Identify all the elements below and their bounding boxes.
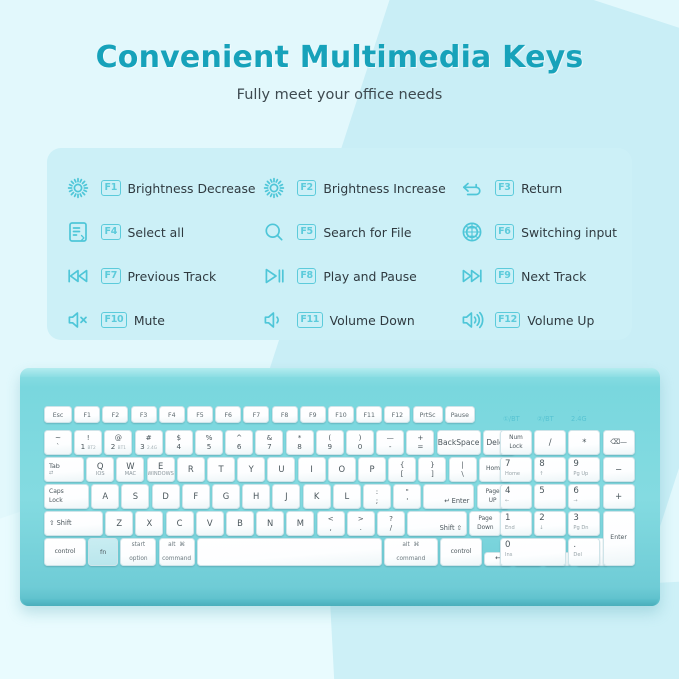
- header: Convenient Multimedia Keys Fully meet yo…: [0, 40, 679, 103]
- key-3: #3 2.4G: [135, 430, 163, 455]
- mute-icon: [65, 307, 91, 333]
- feature-item-f10: F10Mute: [53, 298, 261, 342]
- fkey-badge: F5: [297, 224, 317, 241]
- key-alt-command-right: alt ⌘command: [384, 538, 438, 566]
- key-tab: Tab⇄: [44, 457, 84, 482]
- key-a: A: [91, 484, 119, 509]
- key-numpad-3: 3Pg Dn: [568, 511, 600, 536]
- key-prtsc: PrtSc: [413, 406, 443, 423]
- key-f7: F7: [243, 406, 269, 423]
- key-f1: F1: [74, 406, 100, 423]
- key-8: *8: [286, 430, 314, 455]
- key-1: !1 BT2: [74, 430, 102, 455]
- key-f8: F8: [272, 406, 298, 423]
- fkey-badge: F9: [495, 268, 515, 285]
- key-fn: fn: [88, 538, 118, 566]
- key-k: K: [303, 484, 331, 509]
- feature-label: Select all: [128, 225, 185, 240]
- key-f4: F4: [159, 406, 185, 423]
- page-subtitle: Fully meet your office needs: [0, 87, 679, 103]
- feature-item-f12: F12Volume Up: [459, 298, 626, 342]
- key-4: $4: [165, 430, 193, 455]
- globe-icon: [459, 219, 485, 245]
- fkey-badge: F3: [495, 180, 515, 197]
- key-f11: F11: [356, 406, 382, 423]
- key: —-: [376, 430, 404, 455]
- page-title: Convenient Multimedia Keys: [0, 40, 679, 75]
- feature-label: Brightness Increase: [323, 181, 445, 196]
- key-start-option-left: startoption: [120, 538, 156, 566]
- feature-label: Search for File: [323, 225, 411, 240]
- key: :;: [363, 484, 391, 509]
- key-alt-command-left: alt ⌘command: [159, 538, 195, 566]
- key-numpad-2: 2↓: [534, 511, 566, 536]
- key-g: G: [212, 484, 240, 509]
- key-2: @2 BT1: [104, 430, 132, 455]
- feature-item-f3: F3Return: [459, 166, 626, 210]
- brightness-high-icon: [261, 175, 287, 201]
- key-9: (9: [316, 430, 344, 455]
- volume-up-icon: [459, 307, 485, 333]
- key-backspace: BackSpace: [437, 430, 481, 455]
- key-num-lock: NumLock: [500, 430, 532, 455]
- rf-24g-lamp: ·2.4G: [571, 408, 587, 423]
- feature-label: Next Track: [521, 269, 586, 284]
- key-n: N: [256, 511, 284, 536]
- key-w: WMAC: [116, 457, 144, 482]
- feature-item-f1: F1Brightness Decrease: [53, 166, 261, 210]
- key-d: D: [152, 484, 180, 509]
- key-numpad-4: 4←: [500, 484, 532, 509]
- bluetooth-1-lamp: ·①/BT: [503, 408, 520, 423]
- key-space: [197, 538, 382, 566]
- key-numpad-6: 6→: [568, 484, 600, 509]
- search-icon: [261, 219, 287, 245]
- key-page-down: PageDown: [469, 511, 501, 536]
- select-all-icon: [65, 219, 91, 245]
- key-h: H: [242, 484, 270, 509]
- feature-row: F4Select allF5Search for FileF6Switching…: [53, 210, 626, 254]
- fkey-badge: F10: [101, 312, 127, 329]
- key-numpad-0: 0Ins: [500, 538, 566, 566]
- key-numpad-enter: Enter: [603, 511, 635, 566]
- previous-track-icon: [65, 263, 91, 289]
- key-7: &7: [255, 430, 283, 455]
- key: "': [393, 484, 421, 509]
- key-pause: Pause: [445, 406, 475, 423]
- key-6: ^6: [225, 430, 253, 455]
- key: |\: [449, 457, 477, 482]
- key-f12: F12: [384, 406, 410, 423]
- key-numpad-5: 5: [534, 484, 566, 509]
- multimedia-keys-card: F1Brightness DecreaseF2Brightness Increa…: [47, 148, 632, 340]
- fkey-badge: F2: [297, 180, 317, 197]
- key-o: O: [328, 457, 356, 482]
- key-u: U: [267, 457, 295, 482]
- key-c: C: [166, 511, 194, 536]
- key-f3: F3: [131, 406, 157, 423]
- key-x: X: [135, 511, 163, 536]
- key-z: Z: [105, 511, 133, 536]
- feature-item-f4: F4Select all: [53, 210, 261, 254]
- key-numpad-minus: −: [603, 457, 635, 482]
- key-f9: F9: [300, 406, 326, 423]
- feature-label: Return: [521, 181, 562, 196]
- key-f10: F10: [328, 406, 354, 423]
- feature-label: Mute: [134, 313, 165, 328]
- keycap-container: EscF1F2F3F4F5F6F7F8F9F10F11F12PrtScPause…: [20, 368, 660, 606]
- key-b: B: [226, 511, 254, 536]
- key-numpad-8: 8↑: [534, 457, 566, 482]
- feature-item-f8: F8Play and Pause: [261, 254, 459, 298]
- fkey-badge: F1: [101, 180, 121, 197]
- feature-label: Switching input: [521, 225, 617, 240]
- key-f6: F6: [215, 406, 241, 423]
- feature-row: F10MuteF11Volume DownF12Volume Up: [53, 298, 626, 342]
- key-t: T: [207, 457, 235, 482]
- key: {[: [388, 457, 416, 482]
- key-enter: ↵ Enter: [423, 484, 474, 509]
- key-shift-right: Shift ⇧: [407, 511, 467, 536]
- key-shift-left: ⇧ Shift: [44, 511, 103, 536]
- fkey-badge: F11: [297, 312, 323, 329]
- back-arrow-icon: [459, 175, 485, 201]
- feature-label: Previous Track: [128, 269, 217, 284]
- key-f: F: [182, 484, 210, 509]
- key-v: V: [196, 511, 224, 536]
- key-q: QIOS: [86, 457, 114, 482]
- key-numpad-multiply: *: [568, 430, 600, 455]
- key: }]: [418, 457, 446, 482]
- fkey-badge: F6: [495, 224, 515, 241]
- key-p: P: [358, 457, 386, 482]
- feature-row: F7Previous TrackF8Play and PauseF9Next T…: [53, 254, 626, 298]
- fkey-badge: F7: [101, 268, 121, 285]
- feature-row: F1Brightness DecreaseF2Brightness Increa…: [53, 166, 626, 210]
- key-e: EWINDOWS: [147, 457, 175, 482]
- key: +=: [406, 430, 434, 455]
- fkey-badge: F12: [495, 312, 521, 329]
- key-numpad-decimal: .Del: [568, 538, 600, 566]
- key-5: %5: [195, 430, 223, 455]
- key: <,: [317, 511, 345, 536]
- keyboard-product-image: EscF1F2F3F4F5F6F7F8F9F10F11F12PrtScPause…: [20, 368, 660, 606]
- brightness-low-icon: [65, 175, 91, 201]
- key-r: R: [177, 457, 205, 482]
- key: >.: [347, 511, 375, 536]
- key: ~`: [44, 430, 72, 455]
- key-0: )0: [346, 430, 374, 455]
- key-numpad-1: 1End: [500, 511, 532, 536]
- next-track-icon: [459, 263, 485, 289]
- feature-item-f11: F11Volume Down: [261, 298, 459, 342]
- feature-label: Brightness Decrease: [128, 181, 256, 196]
- feature-label: Volume Up: [527, 313, 594, 328]
- volume-down-icon: [261, 307, 287, 333]
- key-control-left: control: [44, 538, 86, 566]
- key-numpad-9: 9Pg Up: [568, 457, 600, 482]
- key-s: S: [121, 484, 149, 509]
- feature-item-f6: F6Switching input: [459, 210, 626, 254]
- key-numpad-backspace: ⌫—: [603, 430, 635, 455]
- key-numpad-divide: /: [534, 430, 566, 455]
- feature-item-f9: F9Next Track: [459, 254, 626, 298]
- feature-item-f2: F2Brightness Increase: [261, 166, 459, 210]
- key-f5: F5: [187, 406, 213, 423]
- feature-label: Volume Down: [330, 313, 415, 328]
- key: ?/: [377, 511, 405, 536]
- fkey-badge: F8: [297, 268, 317, 285]
- key-numpad-plus: +: [603, 484, 635, 509]
- key-m: M: [286, 511, 314, 536]
- feature-label: Play and Pause: [323, 269, 416, 284]
- key-numpad-7: 7Home: [500, 457, 532, 482]
- key-caps-lock: CapsLock: [44, 484, 89, 509]
- key-esc: Esc: [44, 406, 72, 423]
- key-y: Y: [237, 457, 265, 482]
- feature-item-f5: F5Search for File: [261, 210, 459, 254]
- key-control-right: control: [440, 538, 482, 566]
- key-i: I: [298, 457, 326, 482]
- key-f2: F2: [102, 406, 128, 423]
- key-l: L: [333, 484, 361, 509]
- key-j: J: [272, 484, 300, 509]
- play-pause-icon: [261, 263, 287, 289]
- fkey-badge: F4: [101, 224, 121, 241]
- bluetooth-2-lamp: ·②/BT: [537, 408, 554, 423]
- feature-item-f7: F7Previous Track: [53, 254, 261, 298]
